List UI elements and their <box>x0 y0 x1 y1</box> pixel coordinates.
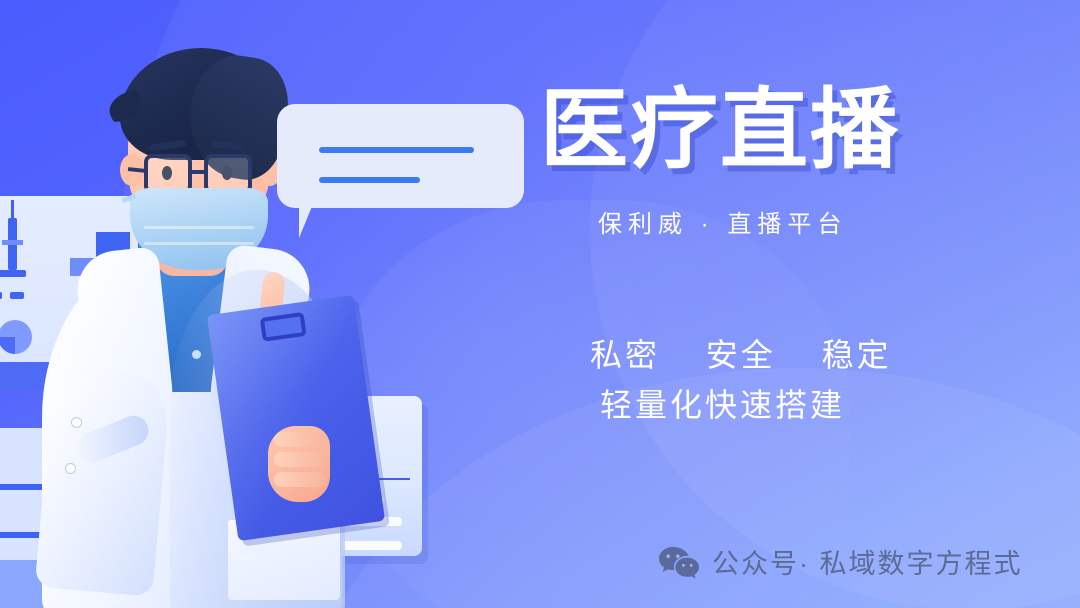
footer-text: 公众号· 私域数字方程式 <box>712 542 1023 581</box>
finger <box>274 452 326 467</box>
panel-dash <box>0 292 2 299</box>
page-title: 医疗直播 <box>540 86 900 174</box>
syringe-icon <box>11 200 14 220</box>
glasses-bridge <box>192 170 204 174</box>
page-subtitle: 保利威 · 直播平台 <box>598 204 847 239</box>
coat-button <box>66 464 75 473</box>
bubble-text-line <box>319 147 474 153</box>
bubble-text-line <box>319 177 420 183</box>
feature-private: 私密 <box>590 337 660 373</box>
finger <box>274 432 326 447</box>
feature-stable: 稳定 <box>822 337 892 373</box>
mask-fold <box>144 242 254 245</box>
footer: 公众号· 私域数字方程式 <box>658 542 1023 581</box>
bubble-tail <box>299 204 333 238</box>
feature-line-1: 私密 安全 稳定 <box>590 330 892 376</box>
marketing-poster: 医疗直播 保利威 · 直播平台 私密 安全 稳定 轻量化快速搭建 公众号· 私域… <box>0 0 1080 608</box>
coat-button <box>72 418 81 427</box>
mask-fold <box>144 226 254 229</box>
feature-line-2: 轻量化快速搭建 <box>600 380 845 426</box>
feature-secure: 安全 <box>706 337 776 373</box>
gripping-hand <box>268 420 346 506</box>
finger <box>274 472 326 487</box>
chat-bubble-illustration <box>277 104 524 208</box>
wechat-icon <box>658 545 700 579</box>
